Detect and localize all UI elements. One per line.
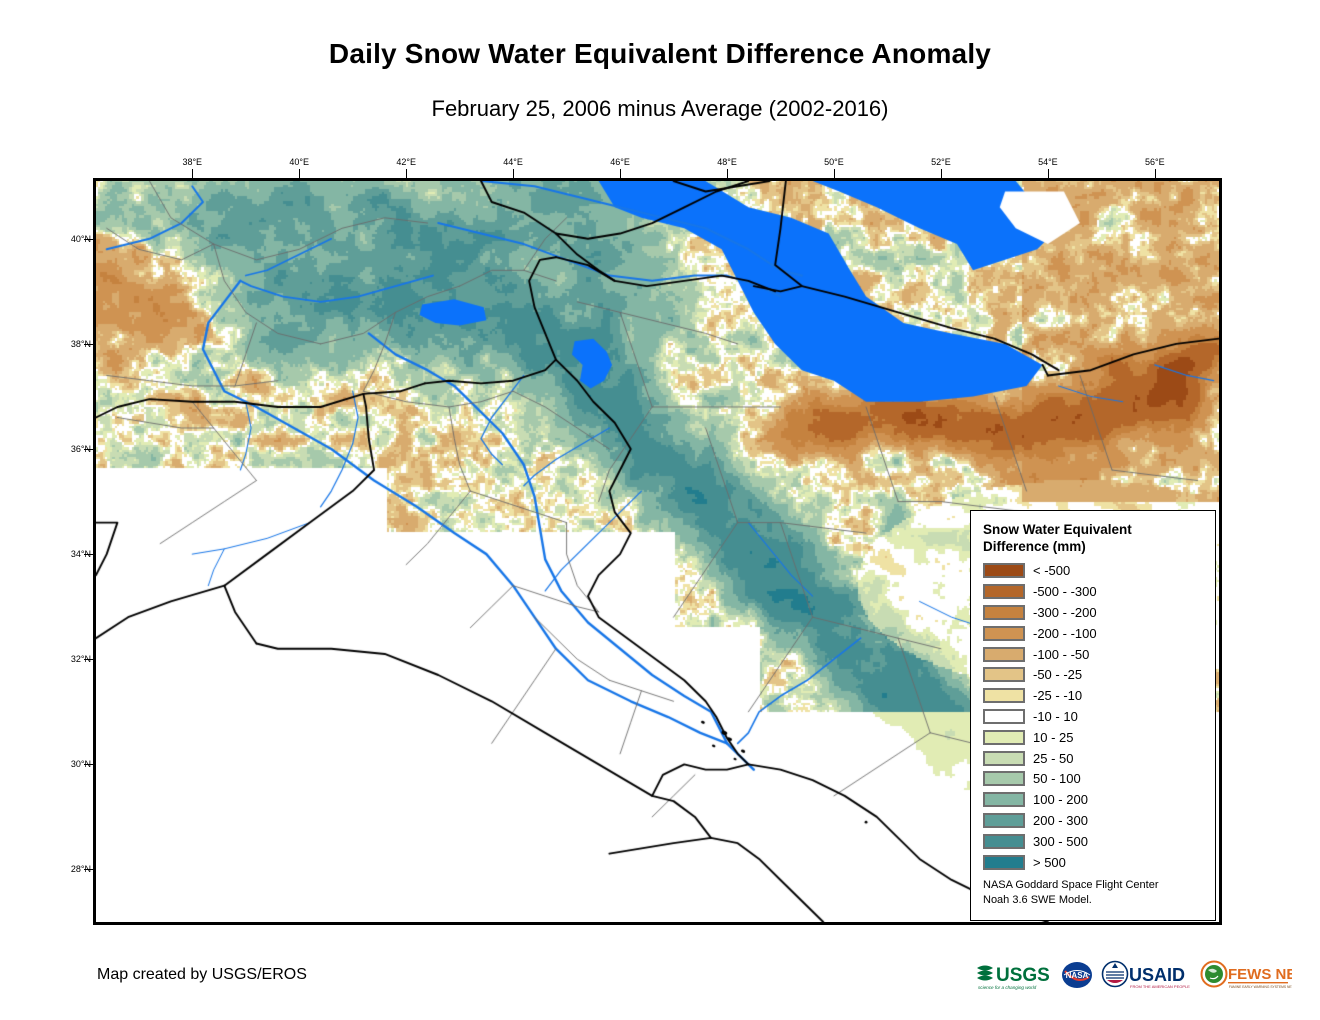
partner-logos: USGS science for a changing world NASA U…: [975, 957, 1292, 993]
lat-tick: [84, 869, 93, 870]
legend-swatch: [983, 792, 1025, 807]
map-credit: Map created by USGS/EROS: [97, 966, 307, 984]
legend-title-line1: Snow Water Equivalent: [983, 521, 1205, 538]
legend-swatch: [983, 563, 1025, 578]
lon-tick: [620, 169, 621, 178]
lat-tick: [84, 764, 93, 765]
legend-label: 300 - 500: [1033, 834, 1088, 849]
lon-label-54°E: 54°E: [1038, 157, 1058, 167]
legend-row: 200 - 300: [983, 810, 1205, 831]
svg-text:FEWS NET: FEWS NET: [1228, 966, 1292, 983]
legend-label: > 500: [1033, 855, 1066, 870]
nasa-logo: NASA: [1060, 958, 1094, 992]
legend-label: -25 - -10: [1033, 688, 1082, 703]
legend-source-line2: Noah 3.6 SWE Model.: [983, 893, 1205, 907]
legend-row: -100 - -50: [983, 644, 1205, 665]
lat-tick: [84, 659, 93, 660]
lat-tick: [84, 554, 93, 555]
legend-source-line1: NASA Goddard Space Flight Center: [983, 878, 1205, 892]
legend-swatch: [983, 688, 1025, 703]
legend-swatch: [983, 834, 1025, 849]
legend-source: NASA Goddard Space Flight Center Noah 3.…: [983, 878, 1205, 907]
lon-tick: [727, 169, 728, 178]
legend-row: -10 - 10: [983, 706, 1205, 727]
svg-text:FAMINE EARLY WARNING SYSTEMS N: FAMINE EARLY WARNING SYSTEMS NETWORK: [1229, 985, 1292, 989]
lon-tick: [941, 169, 942, 178]
legend-row: -25 - -10: [983, 685, 1205, 706]
lon-tick: [299, 169, 300, 178]
lon-label-38°E: 38°E: [182, 157, 202, 167]
legend-label: 100 - 200: [1033, 792, 1088, 807]
legend-swatch: [983, 813, 1025, 828]
page-title: Daily Snow Water Equivalent Difference A…: [0, 38, 1320, 70]
lon-label-52°E: 52°E: [931, 157, 951, 167]
legend-row: 100 - 200: [983, 789, 1205, 810]
lon-label-46°E: 46°E: [610, 157, 630, 167]
svg-text:USGS: USGS: [996, 965, 1050, 986]
legend-row: 10 - 25: [983, 727, 1205, 748]
legend-swatch: [983, 647, 1025, 662]
svg-text:science for a changing world: science for a changing world: [978, 985, 1037, 990]
lon-tick: [1155, 169, 1156, 178]
legend-label: 200 - 300: [1033, 813, 1088, 828]
lon-label-42°E: 42°E: [396, 157, 416, 167]
legend-swatch: [983, 730, 1025, 745]
lon-label-40°E: 40°E: [289, 157, 309, 167]
legend-row: -200 - -100: [983, 623, 1205, 644]
svg-text:USAID: USAID: [1129, 965, 1185, 985]
legend-label: -300 - -200: [1033, 605, 1097, 620]
usaid-logo: USAID FROM THE AMERICAN PEOPLE: [1101, 958, 1193, 992]
legend-row: -50 - -25: [983, 665, 1205, 686]
legend-label: -10 - 10: [1033, 709, 1078, 724]
lat-tick: [84, 344, 93, 345]
legend-label: -100 - -50: [1033, 647, 1089, 662]
legend-label: -500 - -300: [1033, 584, 1097, 599]
legend-label: -200 - -100: [1033, 626, 1097, 641]
legend-swatch: [983, 855, 1025, 870]
legend-row: 300 - 500: [983, 831, 1205, 852]
legend-row: < -500: [983, 561, 1205, 582]
fewsnet-logo: FEWS NET FAMINE EARLY WARNING SYSTEMS NE…: [1200, 958, 1292, 992]
legend-label: -50 - -25: [1033, 667, 1082, 682]
legend-swatch: [983, 667, 1025, 682]
legend-label: 50 - 100: [1033, 771, 1081, 786]
lon-tick: [1048, 169, 1049, 178]
lon-label-48°E: 48°E: [717, 157, 737, 167]
legend-swatch: [983, 605, 1025, 620]
legend-row: > 500: [983, 852, 1205, 873]
legend-swatch: [983, 771, 1025, 786]
legend-swatch: [983, 626, 1025, 641]
legend-swatch: [983, 709, 1025, 724]
lon-label-44°E: 44°E: [503, 157, 523, 167]
svg-text:NASA: NASA: [1066, 971, 1089, 980]
lat-tick: [84, 239, 93, 240]
legend-label: < -500: [1033, 563, 1070, 578]
legend-swatch: [983, 751, 1025, 766]
legend-row: -300 - -200: [983, 602, 1205, 623]
legend-label: 25 - 50: [1033, 751, 1073, 766]
legend-title: Snow Water Equivalent Difference (mm): [983, 521, 1205, 556]
legend-class-list: < -500-500 - -300-300 - -200-200 - -100-…: [983, 561, 1205, 873]
legend-label: 10 - 25: [1033, 730, 1073, 745]
usgs-logo: USGS science for a changing world: [975, 958, 1053, 992]
svg-text:FROM THE AMERICAN PEOPLE: FROM THE AMERICAN PEOPLE: [1130, 984, 1190, 989]
legend-row: 25 - 50: [983, 748, 1205, 769]
lon-tick: [834, 169, 835, 178]
legend-row: 50 - 100: [983, 769, 1205, 790]
lon-label-56°E: 56°E: [1145, 157, 1165, 167]
legend-swatch: [983, 584, 1025, 599]
legend-row: -500 - -300: [983, 581, 1205, 602]
map-legend: Snow Water Equivalent Difference (mm) < …: [970, 510, 1216, 921]
lon-tick: [513, 169, 514, 178]
lon-tick: [406, 169, 407, 178]
lon-label-50°E: 50°E: [824, 157, 844, 167]
page-subtitle: February 25, 2006 minus Average (2002-20…: [0, 96, 1320, 122]
lon-tick: [192, 169, 193, 178]
lat-tick: [84, 449, 93, 450]
legend-title-line2: Difference (mm): [983, 538, 1205, 555]
